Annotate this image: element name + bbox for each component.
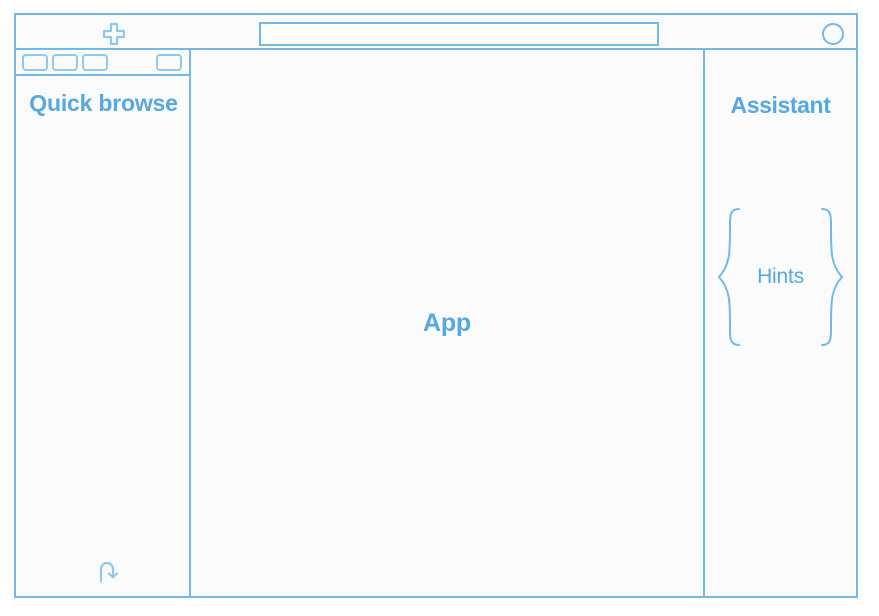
hints-group: Hints xyxy=(713,207,848,347)
sidebar-tool-button-4[interactable] xyxy=(156,54,182,71)
sidebar-title: Quick browse xyxy=(16,88,191,118)
window-body: Quick browse App Assistant xyxy=(14,48,858,598)
app-label: App xyxy=(423,309,471,338)
app-panel: App xyxy=(191,50,705,596)
add-button[interactable] xyxy=(99,21,129,47)
sidebar: Quick browse xyxy=(16,50,191,596)
top-bar xyxy=(14,13,858,50)
sidebar-tool-button-3[interactable] xyxy=(82,54,108,71)
sidebar-tool-button-1[interactable] xyxy=(22,54,48,71)
assistant-title: Assistant xyxy=(705,92,856,119)
hints-label: Hints xyxy=(713,207,848,347)
sidebar-toolbar xyxy=(16,50,191,76)
u-turn-arrow-icon xyxy=(92,556,122,586)
search-input[interactable] xyxy=(261,24,657,44)
wireframe-window: Quick browse App Assistant xyxy=(14,13,858,598)
assistant-panel: Assistant Hints xyxy=(705,50,856,596)
sidebar-tool-button-2[interactable] xyxy=(52,54,78,71)
avatar[interactable] xyxy=(822,23,844,45)
undo-button[interactable] xyxy=(92,556,122,586)
plus-icon xyxy=(101,21,127,47)
search-field[interactable] xyxy=(259,22,659,46)
